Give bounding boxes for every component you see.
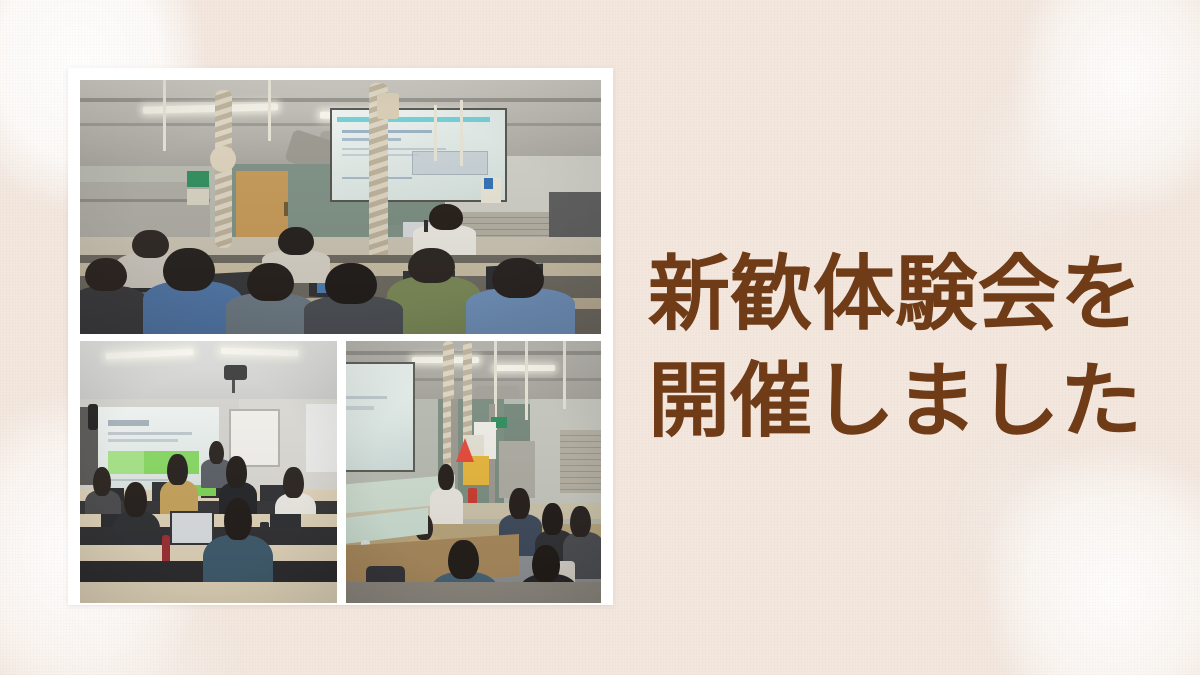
- door-handle: [284, 202, 288, 216]
- participant-head: [542, 503, 562, 534]
- photo-row-bottom: [80, 341, 601, 603]
- hanging-cord: [563, 341, 566, 409]
- student-head: [278, 227, 314, 255]
- projection-screen: [346, 362, 415, 472]
- hanging-lamp: [377, 93, 399, 119]
- foreground-student-head: [224, 498, 252, 540]
- student-head: [226, 456, 247, 487]
- foreground-participant-head: [448, 540, 479, 579]
- open-laptop: [170, 511, 214, 545]
- participant-head: [570, 506, 590, 537]
- slide-green-block-light: [108, 451, 144, 473]
- exit-sign: [187, 171, 209, 187]
- wooden-door: [236, 171, 288, 240]
- presenter-head: [438, 464, 455, 490]
- photo-grid: [80, 80, 601, 593]
- photo-top-workshop: [80, 80, 601, 334]
- hanging-cord: [525, 341, 528, 420]
- slide-text-line: [108, 479, 168, 482]
- hanging-cord: [434, 105, 437, 161]
- student-head: [408, 248, 455, 284]
- watercolor-wash-bottom-right: [930, 430, 1200, 675]
- participant-head: [532, 545, 560, 582]
- slide-title: [108, 420, 149, 426]
- microphone: [424, 220, 428, 232]
- wall-notice: [187, 189, 209, 205]
- student-head: [492, 258, 544, 299]
- student-head: [325, 263, 377, 304]
- safety-cone: [456, 438, 474, 462]
- floor: [346, 582, 601, 603]
- photo-bottom-left-lecture-room: [80, 341, 337, 603]
- slide-text-line: [108, 439, 178, 442]
- hanging-cord: [163, 80, 166, 151]
- student-head: [163, 248, 215, 291]
- student-body: [80, 286, 148, 334]
- student-head: [124, 482, 147, 516]
- slide-text-line: [346, 406, 374, 409]
- photo-bottom-right-workshop: [346, 341, 601, 603]
- slide-headline: 新歓体験会を 開催しました: [648, 242, 1168, 455]
- student-head: [209, 441, 224, 465]
- slide-text-line: [346, 396, 387, 399]
- student-head: [132, 230, 168, 258]
- student-head: [85, 258, 127, 291]
- desk-row-foreground: [80, 582, 337, 603]
- ceiling-projector: [224, 365, 247, 381]
- photo-collage: [68, 68, 613, 605]
- ceiling-beam: [80, 98, 601, 102]
- student-head: [93, 467, 111, 496]
- student-head: [247, 263, 294, 301]
- student-head: [283, 467, 304, 498]
- parts-drawer-cabinet: [560, 430, 601, 493]
- participant-head: [509, 488, 529, 519]
- wall-poster-graphic: [484, 178, 493, 189]
- slide-title-bar: [337, 117, 489, 121]
- slide-image-block: [412, 151, 488, 174]
- ceiling: [80, 341, 337, 399]
- student-head: [167, 454, 188, 485]
- window: [306, 404, 337, 472]
- speaker: [88, 404, 98, 430]
- presenter-head: [429, 204, 463, 229]
- hanging-cord: [460, 100, 463, 166]
- slide-text-line: [342, 148, 446, 150]
- slide-text-line: [108, 432, 193, 435]
- slide-canvas: 新歓体験会を 開催しました: [0, 0, 1200, 675]
- watercolor-wash-top-right: [940, 0, 1200, 260]
- hanging-cord: [268, 80, 271, 141]
